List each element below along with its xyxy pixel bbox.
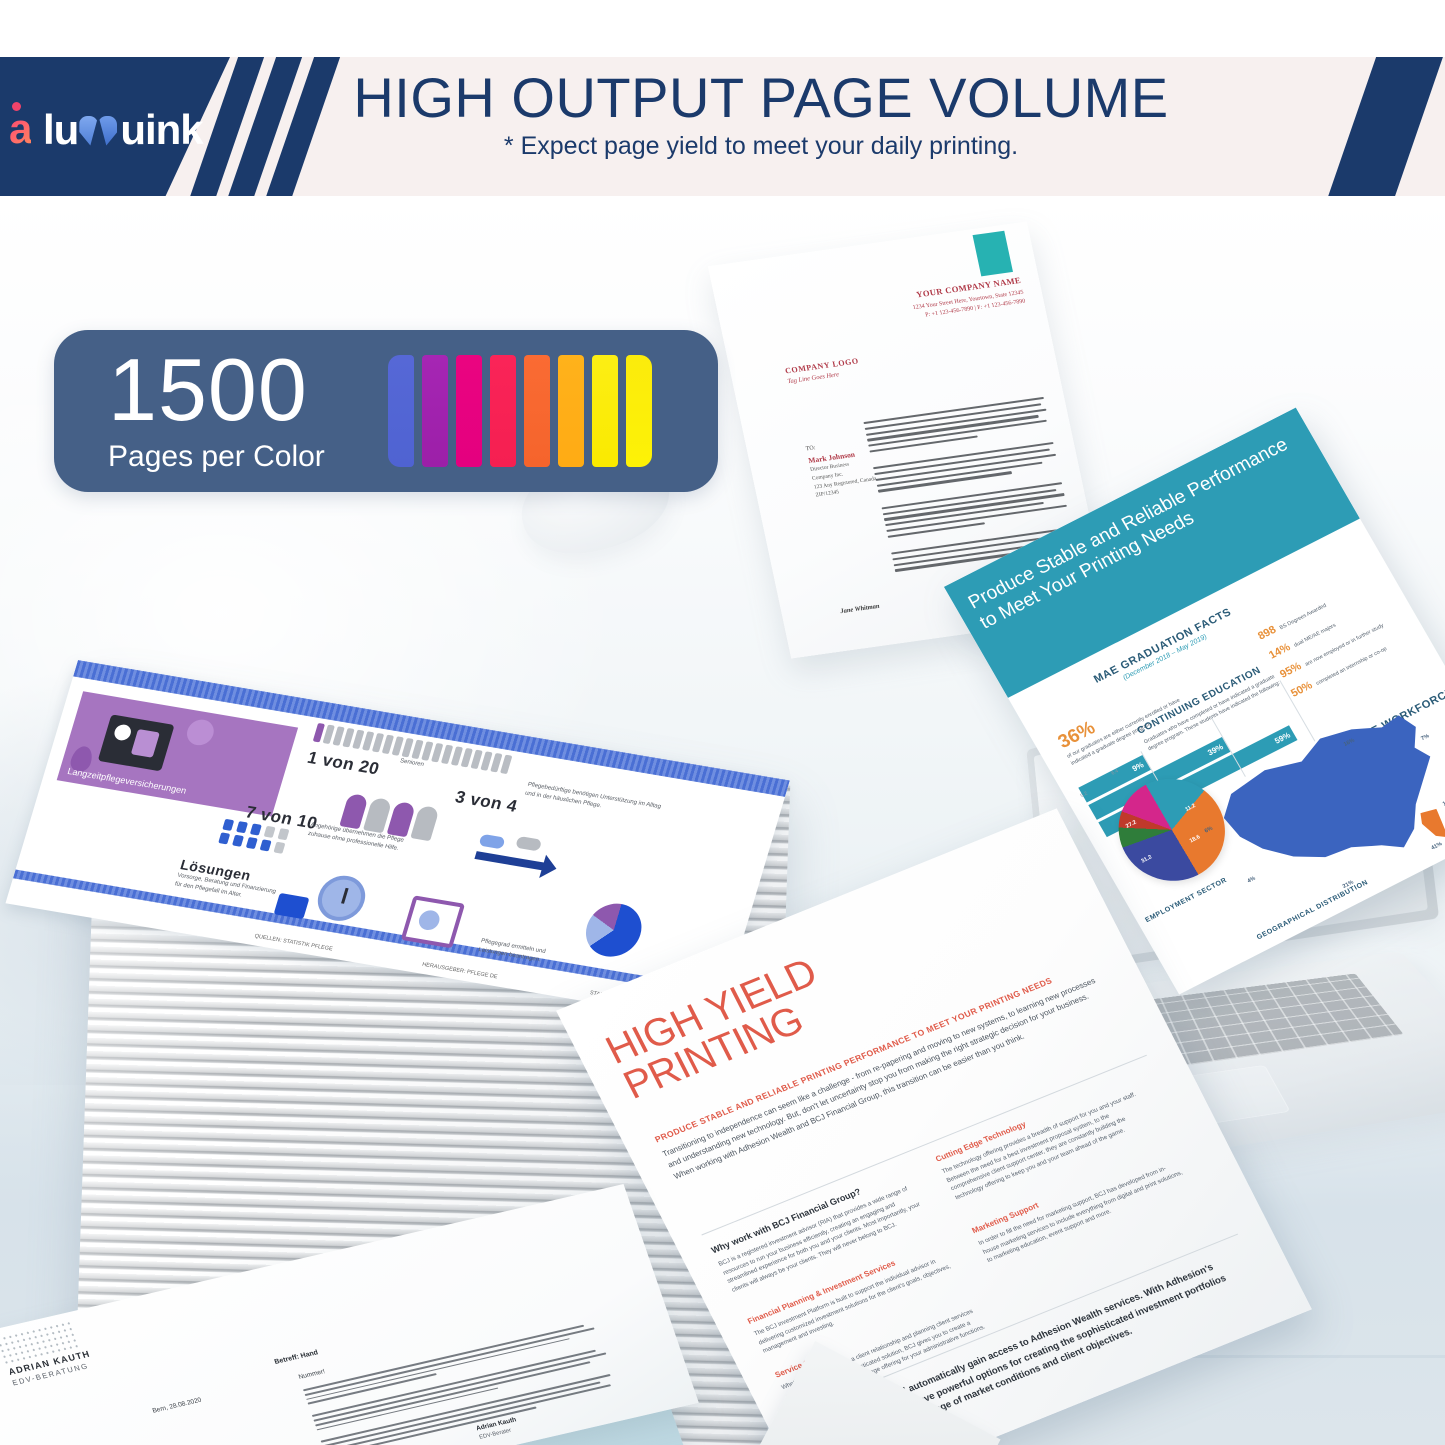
badge-number: 1500 — [108, 348, 384, 432]
map-label-northeast: 7% — [1420, 733, 1430, 742]
stat-value: 898 — [1256, 624, 1278, 643]
sheet-note-a: Pflegegrad ermitteln und Leistungen bean… — [477, 937, 571, 969]
page-title: HIGH OUTPUT PAGE VOLUME — [296, 67, 1226, 130]
sheet-stat-2: 3 von 4 — [453, 787, 520, 817]
color-bar-group — [388, 355, 652, 467]
product-marketing-image: Langzeitpflegeversicherungen 1 von 20 Se… — [0, 0, 1445, 1445]
color-bar-8 — [626, 355, 652, 467]
logo-lu: lu — [43, 109, 78, 151]
letter-greeting: Nummer! — [298, 1368, 326, 1381]
us-map-florida — [1417, 806, 1445, 845]
decorative-circle — [184, 718, 217, 747]
pie-label-consulting: 11.2 — [1184, 803, 1196, 813]
map-label-southeast: 41% — [1430, 841, 1443, 851]
logo-a-glyph: a — [9, 108, 31, 150]
pie-label-manufacturing: 27.2 — [1125, 820, 1138, 830]
pie-label-aerospace: 18.6 — [1189, 834, 1202, 844]
banner-text-group: HIGH OUTPUT PAGE VOLUME * Expect page yi… — [296, 67, 1226, 161]
badge-text-group: 1500 Pages per Color — [54, 348, 384, 474]
brand-logo: a lu uink — [9, 99, 209, 155]
letterhead-signature: Jane Whitman — [840, 603, 881, 615]
pie-chart-title: EMPLOYMENT SECTOR — [1144, 877, 1228, 924]
letter-body-lines — [303, 1322, 619, 1445]
letterhead-to-label: TO: — [805, 445, 816, 452]
pie-label-automotive: 31.2 — [1140, 854, 1153, 864]
sheet-badge-caption: Langzeitpflegeversicherungen — [66, 766, 270, 810]
clipboard-icon — [401, 895, 466, 948]
clock-icon — [312, 872, 371, 924]
page-yield-badge: 1500 Pages per Color — [54, 330, 718, 492]
badge-caption: Pages per Color — [108, 440, 384, 474]
color-bar-7 — [592, 355, 618, 467]
header-banner: a lu uink HIGH OUTPUT PAGE VOLUME * Expe… — [0, 57, 1445, 196]
page-subtitle: * Expect page yield to meet your daily p… — [296, 132, 1226, 161]
document-icon — [274, 893, 310, 919]
color-bar-5 — [524, 355, 550, 467]
color-bar-4 — [490, 355, 516, 467]
logo-uink: uink — [120, 109, 202, 151]
arrow-icon — [474, 851, 547, 871]
pill-shape-b — [515, 836, 542, 852]
color-bar-3 — [456, 355, 482, 467]
sheet-purple-panel: Langzeitpflegeversicherungen — [57, 691, 298, 816]
stat-value: 95% — [1278, 660, 1304, 680]
donut-chart-icon — [579, 900, 648, 961]
brand-logo-text: a lu uink — [9, 104, 203, 151]
color-bar-1 — [388, 355, 414, 467]
stat-value: 14% — [1267, 641, 1293, 661]
pill-shape-a — [478, 834, 505, 850]
sheet-stat-1: 1 von 20 — [305, 748, 382, 779]
color-bar-2 — [422, 355, 448, 467]
letterhead-recipient-address: Director Business Company Inc. 123 Any R… — [810, 457, 880, 500]
letter-date: Bern, 28.08.2020 — [152, 1397, 203, 1415]
stat-value: 50% — [1289, 679, 1315, 699]
logo-m-icon — [79, 110, 119, 144]
color-bar-6 — [558, 355, 584, 467]
map-label-southwest: 4% — [1246, 876, 1256, 885]
care-icon — [98, 714, 175, 771]
letter-subject: Betreff: Hand — [274, 1349, 319, 1366]
letterhead-teal-tab — [973, 231, 1013, 277]
sheet-stat-2-note: Pflegebedürftige benötigen Unterstützung… — [524, 781, 667, 822]
logo-a-icon: a — [9, 104, 43, 144]
